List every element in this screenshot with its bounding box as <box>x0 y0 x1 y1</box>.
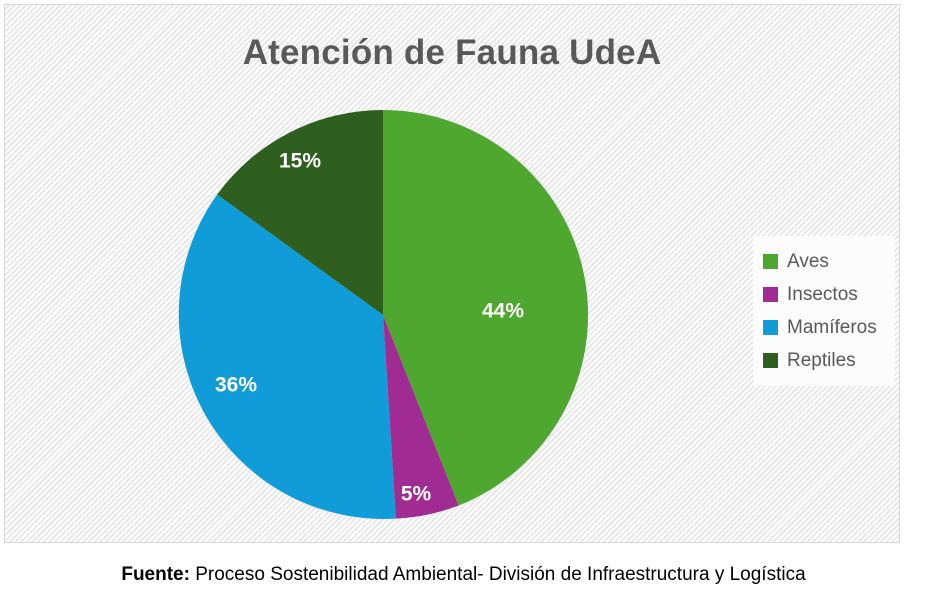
legend-swatch-mamiferos <box>763 320 778 335</box>
legend-label-insectos: Insectos <box>787 284 858 306</box>
pie-chart-svg: 44% 5% 36% 15% <box>173 105 593 525</box>
pie-plot-area: 44% 5% 36% 15% <box>173 105 593 525</box>
legend-label-reptiles: Reptiles <box>787 350 856 372</box>
legend-swatch-reptiles <box>763 353 778 368</box>
legend-label-mamiferos: Mamíferos <box>787 317 877 339</box>
pie-label-reptiles: 15% <box>279 150 321 173</box>
chart-legend: Aves Insectos Mamíferos Reptiles <box>753 236 895 386</box>
chart-title: Atención de Fauna UdeA <box>5 31 899 75</box>
pie-label-aves: 44% <box>482 300 524 323</box>
legend-swatch-aves <box>763 254 778 269</box>
legend-item-reptiles[interactable]: Reptiles <box>753 344 895 377</box>
source-caption-text: Proceso Sostenibilidad Ambiental- Divisi… <box>190 564 806 585</box>
chart-container: Atención de Fauna UdeA 44% 5% 36% 15% Av… <box>4 4 900 543</box>
source-caption-label: Fuente: <box>121 564 190 585</box>
legend-swatch-insectos <box>763 287 778 302</box>
legend-item-insectos[interactable]: Insectos <box>753 278 895 311</box>
pie-label-insectos: 5% <box>401 483 432 506</box>
legend-item-mamiferos[interactable]: Mamíferos <box>753 311 895 344</box>
source-caption: Fuente: Proceso Sostenibilidad Ambiental… <box>0 562 927 588</box>
legend-label-aves: Aves <box>787 251 829 273</box>
pie-label-mamiferos: 36% <box>215 374 257 397</box>
legend-item-aves[interactable]: Aves <box>753 245 895 278</box>
